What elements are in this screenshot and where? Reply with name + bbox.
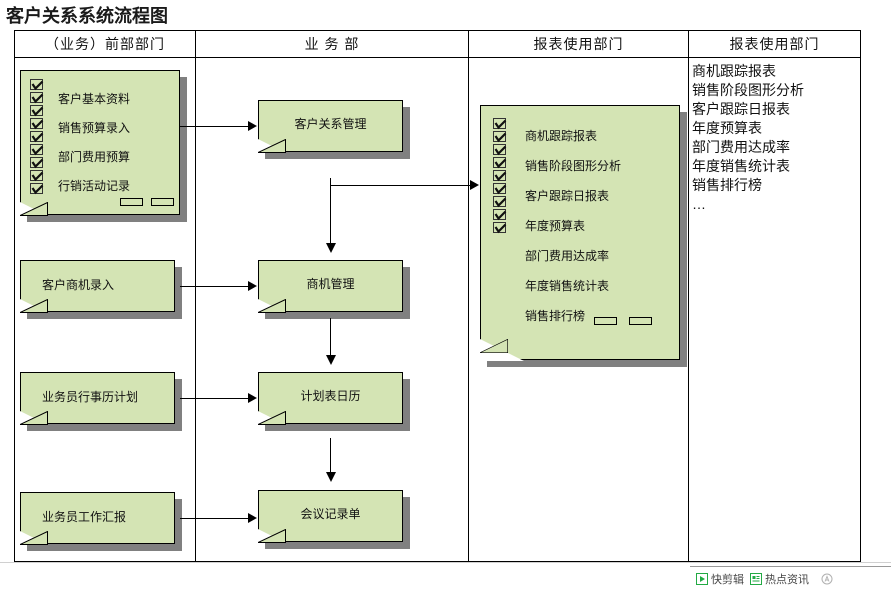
folded-corner <box>480 339 524 361</box>
report-doc-checkbox-column <box>493 118 506 235</box>
doc-line: 部门费用预算 <box>58 148 130 165</box>
arrow-input1-to-opportunity <box>248 281 257 291</box>
process-crm[interactable]: 客户关系管理 <box>258 100 403 152</box>
checkbox-icon[interactable] <box>493 157 506 168</box>
process-opportunity[interactable]: 商机管理 <box>258 260 403 312</box>
report-list-item: 客户跟踪日报表 <box>692 100 804 119</box>
arrow-opportunity-to-calendar <box>326 355 336 365</box>
check-mark-icon <box>494 223 507 234</box>
doc-line: 客户基本资料 <box>58 90 130 107</box>
connector-input3-to-meeting <box>180 518 248 519</box>
doc-line: 部门费用达成率 <box>525 247 621 264</box>
footer-item-kuaijianji[interactable]: 快剪辑 <box>696 571 744 587</box>
front-doc-button-bar[interactable] <box>120 198 174 206</box>
check-mark-icon <box>494 145 507 156</box>
checkbox-icon[interactable] <box>30 183 43 194</box>
column-divider-3 <box>688 31 689 562</box>
report-name-list: 商机跟踪报表销售阶段图形分析客户跟踪日报表年度预算表部门费用达成率年度销售统计表… <box>692 62 804 214</box>
column-header-report1: 报表使用部门 <box>469 31 688 57</box>
checkbox-icon[interactable] <box>493 222 506 233</box>
checkbox-icon[interactable] <box>493 144 506 155</box>
footer-item-label: 热点资讯 <box>765 571 809 587</box>
connector-input1-to-opportunity <box>180 286 248 287</box>
report-list-item: 年度预算表 <box>692 119 804 138</box>
front-doc-checkbox-column <box>30 79 43 196</box>
mini-button[interactable] <box>629 317 652 325</box>
shape-label: 计划表日历 <box>258 372 403 424</box>
mini-button[interactable] <box>151 198 174 206</box>
shape-label: 业务员工作汇报 <box>20 492 175 544</box>
shape-label: 业务员行事历计划 <box>20 372 175 424</box>
check-mark-icon <box>494 119 507 130</box>
news-green-icon <box>750 573 762 585</box>
checkbox-icon[interactable] <box>493 196 506 207</box>
footer-item-label: 快剪辑 <box>711 571 744 587</box>
check-mark-icon <box>494 171 507 182</box>
mini-button[interactable] <box>120 198 143 206</box>
check-mark-icon <box>494 184 507 195</box>
column-divider-2 <box>468 31 469 562</box>
connector-doc-to-crm <box>180 126 248 127</box>
checkbox-icon[interactable] <box>30 131 43 142</box>
column-header-report2: 报表使用部门 <box>689 31 860 57</box>
front-checklist-document[interactable]: 客户基本资料销售预算录入部门费用预算行销活动记录 <box>20 70 180 215</box>
process-meeting-minutes[interactable]: 会议记录单 <box>258 490 403 542</box>
arrow-crm-to-opportunity <box>326 243 336 253</box>
footer-divider <box>0 562 891 563</box>
doc-line: 销售预算录入 <box>58 119 130 136</box>
check-mark-icon <box>31 158 44 169</box>
check-mark-icon <box>31 106 44 117</box>
flowchart-page: 客户关系系统流程图 （业务）前部部门 业 务 部 报表使用部门 报表使用部门 客… <box>0 0 891 590</box>
circle-a-icon <box>821 573 833 585</box>
check-mark-icon <box>494 197 507 208</box>
column-divider-1 <box>195 31 196 562</box>
check-mark-icon <box>494 210 507 221</box>
input-box-sales-calendar[interactable]: 业务员行事历计划 <box>20 372 175 424</box>
folded-corner <box>20 202 48 216</box>
report-list-item: 销售排行榜 <box>692 176 804 195</box>
shape-label: 客户关系管理 <box>258 100 403 152</box>
checkbox-icon[interactable] <box>493 118 506 129</box>
report-list-item: … <box>692 195 804 214</box>
report-doc-button-bar[interactable] <box>594 317 652 325</box>
connector-opportunity-to-calendar <box>330 318 331 358</box>
check-mark-icon <box>494 132 507 143</box>
front-doc-lines: 客户基本资料销售预算录入部门费用预算行销活动记录 <box>58 90 130 194</box>
checkbox-icon[interactable] <box>30 170 43 181</box>
doc-line: 行销活动记录 <box>58 177 130 194</box>
column-header-business: 业 务 部 <box>196 31 468 57</box>
footer-item-circle[interactable] <box>821 573 833 585</box>
check-mark-icon <box>31 145 44 156</box>
check-mark-icon <box>31 80 44 91</box>
process-calendar[interactable]: 计划表日历 <box>258 372 403 424</box>
shape-label: 客户商机录入 <box>20 260 175 312</box>
doc-line: 客户跟踪日报表 <box>525 187 621 204</box>
arrow-doc-to-crm <box>248 121 257 131</box>
report-list-item: 年度销售统计表 <box>692 157 804 176</box>
check-mark-icon <box>31 184 44 195</box>
page-title: 客户关系系统流程图 <box>6 2 168 28</box>
checkbox-icon[interactable] <box>30 144 43 155</box>
checkbox-icon[interactable] <box>493 209 506 220</box>
check-mark-icon <box>31 119 44 130</box>
arrow-input2-to-calendar <box>248 393 257 403</box>
input-box-customer-opportunity[interactable]: 客户商机录入 <box>20 260 175 312</box>
check-mark-icon <box>31 132 44 143</box>
connector-input2-to-calendar <box>180 398 248 399</box>
doc-line: 年度预算表 <box>525 217 621 234</box>
swimlane-header-row: （业务）前部部门 业 务 部 报表使用部门 报表使用部门 <box>15 31 860 58</box>
checkbox-icon[interactable] <box>493 131 506 142</box>
checkbox-icon[interactable] <box>493 170 506 181</box>
column-header-front: （业务）前部部门 <box>15 31 195 57</box>
report-list-item: 销售阶段图形分析 <box>692 81 804 100</box>
mini-button[interactable] <box>594 317 617 325</box>
arrow-crm-to-report-doc <box>470 180 479 190</box>
report-doc-lines: 商机跟踪报表销售阶段图形分析客户跟踪日报表年度预算表部门费用达成率年度销售统计表… <box>525 127 621 324</box>
connector-crm-to-opportunity <box>330 178 331 246</box>
footer-item-redianzixun[interactable]: 热点资讯 <box>750 571 809 587</box>
arrow-input3-to-meeting <box>248 513 257 523</box>
arrow-calendar-to-meeting <box>326 472 336 482</box>
check-mark-icon <box>31 93 44 104</box>
doc-line: 年度销售统计表 <box>525 277 621 294</box>
play-green-icon <box>696 573 708 585</box>
doc-line: 商机跟踪报表 <box>525 127 621 144</box>
checkbox-icon[interactable] <box>30 105 43 116</box>
shape-label: 会议记录单 <box>258 490 403 542</box>
check-mark-icon <box>494 158 507 169</box>
input-box-sales-report[interactable]: 业务员工作汇报 <box>20 492 175 544</box>
report-list-item: 部门费用达成率 <box>692 138 804 157</box>
doc-line: 销售阶段图形分析 <box>525 157 621 174</box>
checkbox-icon[interactable] <box>30 79 43 90</box>
footer-toolbar: 快剪辑 热点资讯 <box>690 566 891 590</box>
checkbox-icon[interactable] <box>30 118 43 129</box>
connector-crm-to-report-doc <box>330 185 470 186</box>
checkbox-icon[interactable] <box>30 157 43 168</box>
report-output-document[interactable]: 商机跟踪报表销售阶段图形分析客户跟踪日报表年度预算表部门费用达成率年度销售统计表… <box>480 105 680 360</box>
report-list-item: 商机跟踪报表 <box>692 62 804 81</box>
shape-label: 商机管理 <box>258 260 403 312</box>
checkbox-icon[interactable] <box>30 92 43 103</box>
check-mark-icon <box>31 171 44 182</box>
checkbox-icon[interactable] <box>493 183 506 194</box>
